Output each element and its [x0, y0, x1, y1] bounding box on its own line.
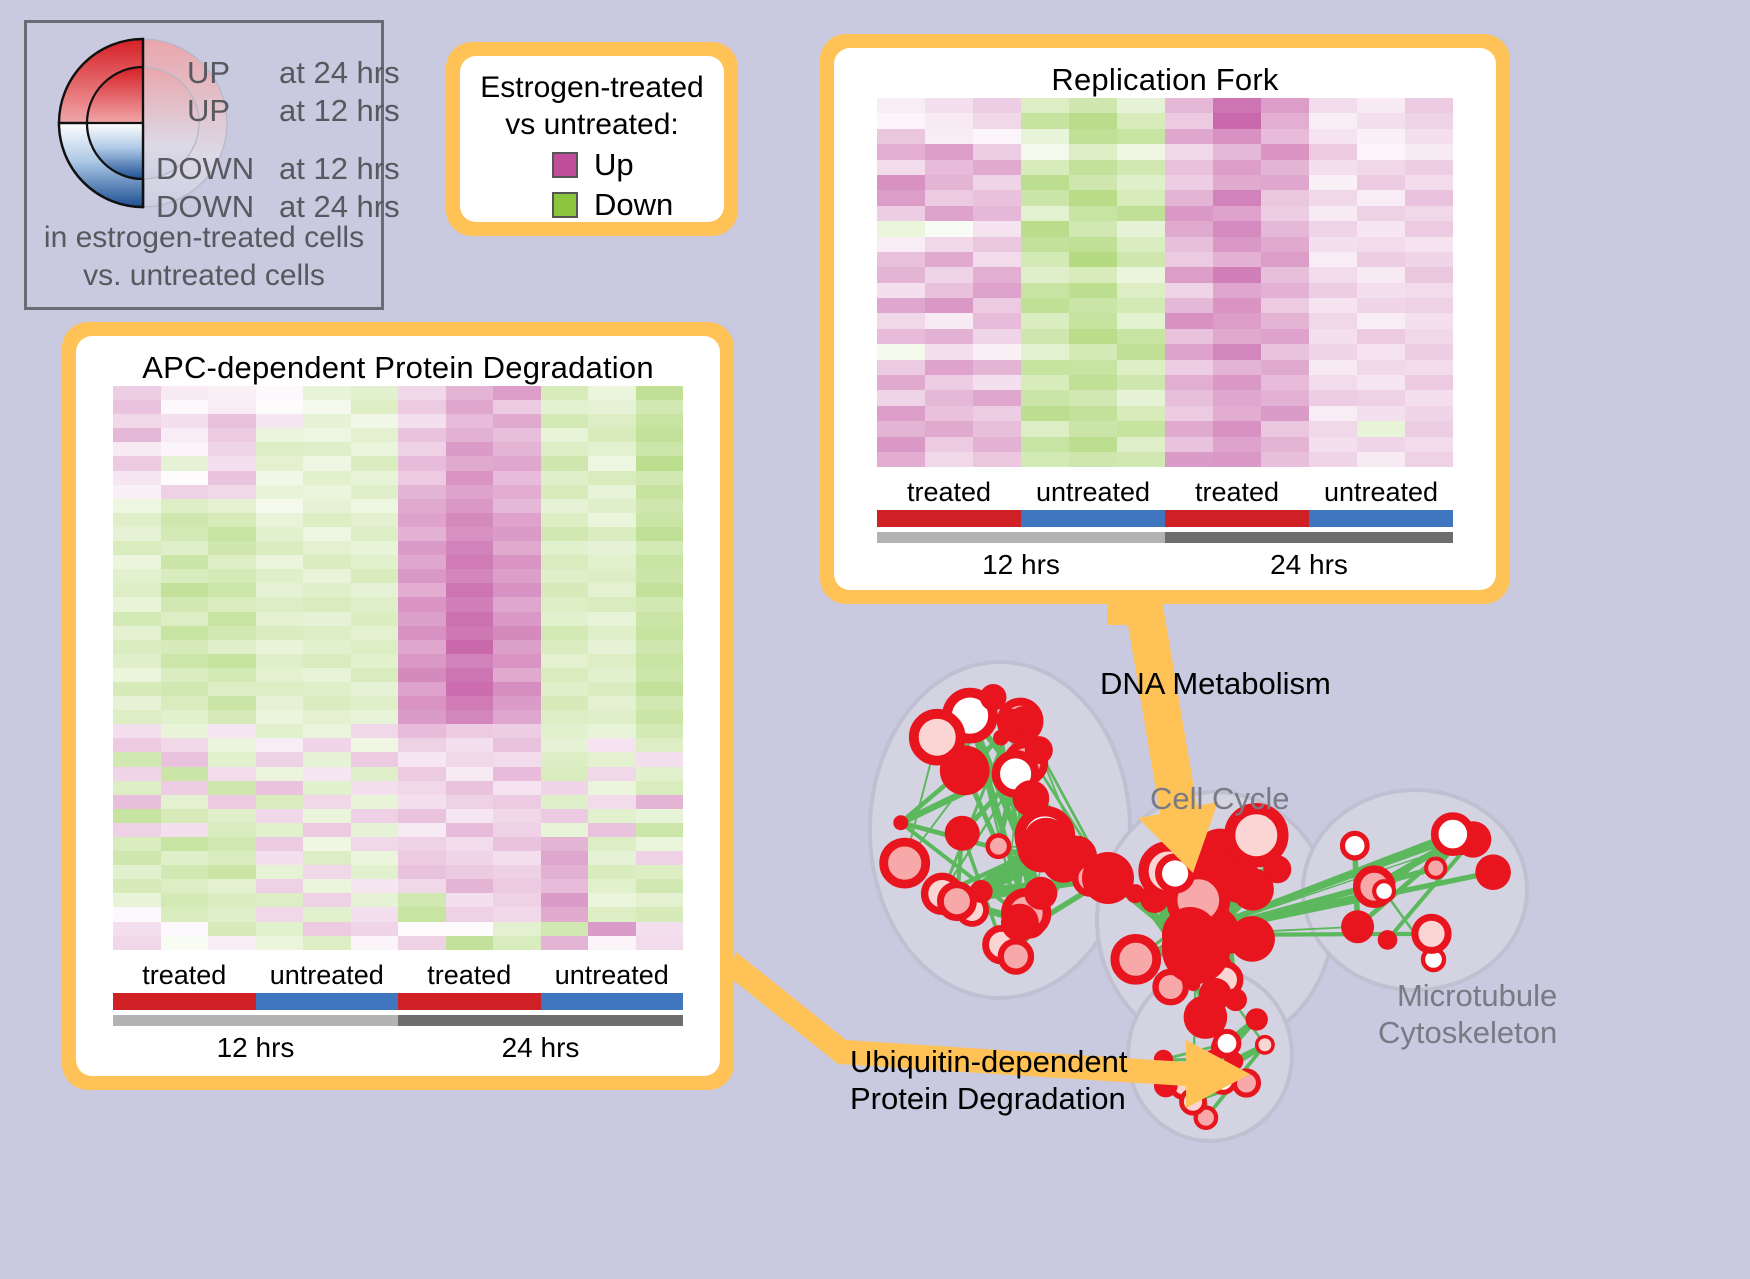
heatmap-cell [303, 795, 351, 809]
network-edge-microtubule [1436, 837, 1461, 868]
network-edge-dna [1001, 738, 1034, 924]
heatmap-cell [303, 809, 351, 823]
heatmap-cell [541, 428, 589, 442]
cluster-label-microtubule-cytoskeleton: Microtubule Cytoskeleton [1378, 977, 1557, 1051]
network-edge-dna [1012, 721, 1034, 924]
heatmap-cell [398, 414, 446, 428]
heatmap-cell [588, 865, 636, 879]
heatmap-cell [1357, 421, 1405, 436]
network-node [1199, 978, 1232, 1011]
heatmap-cell [256, 513, 304, 527]
heatmap-cell [1021, 329, 1069, 344]
heatmap-cell [208, 865, 256, 879]
group-color-bar [877, 510, 1453, 527]
heatmap-cell [351, 555, 399, 569]
heatmap-cell [161, 471, 209, 485]
network-edge-dna [972, 836, 1045, 910]
heatmap-cell [256, 893, 304, 907]
heatmap-cell [1069, 437, 1117, 452]
heatmap-cell [1021, 190, 1069, 205]
network-edge-cell-cycle [1171, 873, 1175, 882]
heatmap-cell [398, 922, 446, 936]
heatmap-cell [636, 583, 684, 597]
network-edge-cell-cycle [1135, 894, 1186, 966]
heatmap-cell [1405, 221, 1453, 236]
heatmap-cell [588, 555, 636, 569]
network-edge-cell-cycle [1165, 871, 1205, 1017]
heatmap-cell [1069, 252, 1117, 267]
heatmap-cell [1165, 252, 1213, 267]
heatmap-cell [208, 597, 256, 611]
network-node [1156, 868, 1185, 897]
network-edge-ubiquitin [1200, 1045, 1265, 1084]
heatmap-cell [877, 129, 925, 144]
heatmap-cell [541, 541, 589, 555]
heatmap-cell [208, 752, 256, 766]
network-edge-dna [957, 892, 981, 902]
panel-title-apc: APC-dependent Protein Degradation [76, 336, 720, 386]
network-edge-dna [1039, 750, 1091, 878]
heatmap-cell [161, 569, 209, 583]
heatmap-cell [303, 583, 351, 597]
network-node [1197, 1059, 1213, 1075]
heatmap-cell [1021, 390, 1069, 405]
heatmap-cell [493, 527, 541, 541]
heatmap-cell [925, 237, 973, 252]
heatmap-cell [588, 724, 636, 738]
heatmap-cell [493, 682, 541, 696]
heatmap-cell [208, 809, 256, 823]
heatmap-cell [1117, 252, 1165, 267]
heatmap-cell [256, 879, 304, 893]
heatmap-cell [1261, 344, 1309, 359]
heatmap-cell [446, 597, 494, 611]
heatmap-cell [877, 175, 925, 190]
group-bar-untreated-24 [541, 993, 684, 1010]
network-edge-dna [993, 697, 1020, 721]
heatmap-cell [351, 612, 399, 626]
heatmap-cell [1117, 129, 1165, 144]
heatmap-cell [256, 626, 304, 640]
heatmap-cell [925, 344, 973, 359]
network-edge-ubiquitin [1200, 1065, 1206, 1117]
heatmap-cell [303, 527, 351, 541]
heatmap-cell [256, 865, 304, 879]
heatmap-cell [493, 738, 541, 752]
network-node [1082, 852, 1134, 904]
up-swatch-icon [552, 152, 578, 178]
heatmap-cell [256, 907, 304, 921]
network-edge-dna [1034, 856, 1076, 923]
network-edge-cell-cycle [1214, 884, 1232, 968]
heatmap-cell [541, 936, 589, 950]
heatmap-cell [208, 696, 256, 710]
heatmap-cell [493, 541, 541, 555]
network-edge-microtubule [1384, 891, 1433, 959]
heatmap-cell [161, 738, 209, 752]
heatmap-cell [1117, 98, 1165, 113]
network-node [1022, 828, 1062, 868]
heatmap-cell [1405, 267, 1453, 282]
heatmap-cell [1213, 329, 1261, 344]
network-edge-cell-cycle [1180, 869, 1277, 945]
network-node [1171, 1072, 1197, 1098]
heatmap-cell [1213, 98, 1261, 113]
heatmap-cell [588, 767, 636, 781]
heatmap-cell [161, 795, 209, 809]
heatmap-cell [351, 922, 399, 936]
heatmap-cell [636, 851, 684, 865]
network-edge-cell-cycle [1193, 929, 1208, 984]
time-bar-12 [877, 532, 1165, 543]
heatmap-cell [636, 428, 684, 442]
group-labels: treated untreated treated untreated [877, 477, 1453, 508]
heatmap-cell [161, 781, 209, 795]
heatmap-cell [636, 907, 684, 921]
heatmap-cell [1261, 298, 1309, 313]
heatmap-cell [1405, 375, 1453, 390]
network-node [1000, 709, 1024, 733]
heatmap-cell [1117, 452, 1165, 467]
heatmap-cell [161, 654, 209, 668]
network-node [1446, 822, 1476, 852]
network-edge-microtubule [1374, 887, 1384, 891]
heatmap-cell [303, 936, 351, 950]
heatmap-cell [925, 113, 973, 128]
heatmap-cell [161, 865, 209, 879]
heatmap-cell [303, 865, 351, 879]
heatmap-cell [588, 414, 636, 428]
heatmap-cell [1021, 160, 1069, 175]
network-edge-cell-cycle [1171, 881, 1239, 883]
network-edge-cell-cycle [1175, 873, 1186, 965]
heatmap-cell [636, 485, 684, 499]
time-bar-12 [113, 1015, 398, 1026]
network-bridge-edge [1165, 871, 1196, 950]
heatmap-cell [351, 837, 399, 851]
heatmap-replication-fork [877, 98, 1453, 467]
network-edge-cell-cycle [1225, 884, 1233, 980]
heatmap-cell [877, 144, 925, 159]
network-bridge-edge [1180, 935, 1190, 946]
network-node [1191, 1056, 1209, 1074]
heatmap-cell [1405, 298, 1453, 313]
heatmap-cell [161, 823, 209, 837]
heatmap-cell [588, 499, 636, 513]
heatmap-cell [1357, 221, 1405, 236]
network-edge-dna [970, 716, 1026, 913]
heatmap-cell [973, 452, 1021, 467]
heatmap-cell [1117, 175, 1165, 190]
heatmap-cell [208, 583, 256, 597]
group-label-3: untreated [541, 960, 684, 991]
heatmap-cell [351, 386, 399, 400]
heatmap-cell [493, 640, 541, 654]
heatmap-cell [1117, 390, 1165, 405]
heatmap-cell [256, 597, 304, 611]
network-edge-dna [905, 721, 1012, 863]
heatmap-cell [351, 640, 399, 654]
heatmap-cell [493, 837, 541, 851]
network-edge-ubiquitin [1193, 1083, 1246, 1102]
heatmap-cell [541, 851, 589, 865]
network-node [1162, 928, 1198, 964]
estrogen-title-line-1: Estrogen-treated [460, 70, 724, 107]
heatmap-cell [113, 738, 161, 752]
heatmap-cell [493, 569, 541, 583]
heatmap-cell [541, 879, 589, 893]
network-node [1196, 1108, 1216, 1128]
heatmap-cell [588, 456, 636, 470]
heatmap-cell [351, 471, 399, 485]
heatmap-cell [256, 851, 304, 865]
heatmap-cell [446, 583, 494, 597]
heatmap-cell [588, 400, 636, 414]
cluster-halo-dna-metabolism [870, 662, 1130, 998]
heatmap-cell [636, 823, 684, 837]
network-bridge-edge [1064, 861, 1108, 878]
heatmap-cell [925, 298, 973, 313]
heatmap-cell [303, 879, 351, 893]
network-node [1423, 949, 1444, 970]
heatmap-cell [1261, 267, 1309, 282]
heatmap-cell [113, 541, 161, 555]
heatmap-cell [877, 452, 925, 467]
heatmap-cell [398, 823, 446, 837]
network-node [1374, 881, 1394, 901]
heatmap-cell [1117, 160, 1165, 175]
heatmap-cell [493, 851, 541, 865]
heatmap-cell [446, 752, 494, 766]
network-edge-ubiquitin [1222, 1019, 1257, 1047]
heatmap-cell [1405, 252, 1453, 267]
heatmap-cell [398, 499, 446, 513]
heatmap-cell [303, 541, 351, 555]
network-node [1229, 916, 1275, 962]
network-bridge-edge [901, 823, 1108, 878]
network-node [1224, 988, 1247, 1011]
timepoint-labels: 12 hrs 24 hrs [877, 549, 1453, 581]
network-bridge-edge [1196, 950, 1214, 967]
heatmap-cell [541, 569, 589, 583]
heatmap-cell [1069, 113, 1117, 128]
heatmap-cell [256, 471, 304, 485]
network-node [1197, 909, 1228, 940]
network-node [884, 842, 926, 884]
heatmap-cell [1357, 237, 1405, 252]
heatmap-cell [877, 252, 925, 267]
heatmap-cell [351, 795, 399, 809]
heatmap-cell [541, 767, 589, 781]
heatmap-cell [1117, 267, 1165, 282]
heatmap-cell [256, 640, 304, 654]
heatmap-cell [973, 390, 1021, 405]
heatmap-cell [1021, 313, 1069, 328]
heatmap-cell [351, 654, 399, 668]
network-edge-ubiquitin [1163, 1059, 1223, 1080]
network-node [1154, 1074, 1178, 1098]
heatmap-cell [1405, 360, 1453, 375]
network-edge-cell-cycle [1209, 929, 1216, 995]
heatmap-cell [973, 267, 1021, 282]
heatmap-cell [1213, 406, 1261, 421]
heatmap-cell [208, 823, 256, 837]
heatmap-cell [1261, 375, 1309, 390]
network-edge-cell-cycle [1171, 883, 1202, 935]
heatmap-cell [446, 654, 494, 668]
heatmap-cell [208, 442, 256, 456]
wheel-time-0: at 24 hrs [279, 55, 400, 91]
heatmap-cell [1069, 298, 1117, 313]
heatmap-cell [161, 851, 209, 865]
heatmap-cell [398, 626, 446, 640]
heatmap-cell [1213, 267, 1261, 282]
heatmap-cell [588, 795, 636, 809]
heatmap-cell [493, 781, 541, 795]
heatmap-cell [493, 823, 541, 837]
network-node [1263, 855, 1291, 883]
heatmap-cell [113, 527, 161, 541]
heatmap-cell [303, 485, 351, 499]
network-node [1025, 736, 1053, 764]
timepoint-label-24: 24 hrs [1165, 549, 1453, 581]
heatmap-cell [1309, 313, 1357, 328]
network-edge-microtubule [1358, 837, 1461, 927]
heatmap-cell [1405, 175, 1453, 190]
network-edge-ubiquitin [1213, 1059, 1247, 1083]
network-edge-dna [1030, 840, 1046, 922]
network-edge-ubiquitin [1206, 1045, 1265, 1118]
heatmap-cell [1213, 237, 1261, 252]
heatmap-cell [636, 752, 684, 766]
heatmap-cell [208, 767, 256, 781]
network-bridge-edge [1190, 868, 1436, 935]
heatmap-cell [1405, 113, 1453, 128]
network-edge-ubiquitin [1205, 1059, 1213, 1068]
network-node [1211, 1069, 1235, 1093]
heatmap-cell [446, 907, 494, 921]
network-node [1209, 964, 1240, 995]
heatmap-cell [208, 456, 256, 470]
heatmap-cell [1069, 98, 1117, 113]
network-edge-cell-cycle [1168, 871, 1186, 965]
heatmap-cell [398, 527, 446, 541]
network-bridge-edge [1190, 891, 1384, 935]
heatmap-cell [303, 400, 351, 414]
network-edge-ubiquitin [1223, 1061, 1234, 1080]
heatmap-cell [588, 597, 636, 611]
heatmap-cell [256, 583, 304, 597]
heatmap-cell [446, 485, 494, 499]
network-bridge-edge [1108, 878, 1196, 950]
network-node [1184, 995, 1228, 1039]
heatmap-cell [973, 129, 1021, 144]
heatmap-cell [398, 781, 446, 795]
heatmap-cell [351, 865, 399, 879]
group-bar-treated-24 [398, 993, 541, 1010]
heatmap-cell [113, 767, 161, 781]
network-bridge-edge [1196, 950, 1222, 1047]
network-edge-ubiquitin [1166, 1083, 1247, 1085]
heatmap-cell [303, 823, 351, 837]
heatmap-cell [877, 113, 925, 128]
heatmap-cell [493, 936, 541, 950]
heatmap-cell [1309, 283, 1357, 298]
heatmap-cell [1165, 344, 1213, 359]
heatmap-cell [541, 682, 589, 696]
network-node [1182, 1090, 1205, 1113]
heatmap-cell [1069, 283, 1117, 298]
heatmap-cell [351, 781, 399, 795]
network-node [940, 746, 990, 796]
heatmap-cell [256, 809, 304, 823]
heatmap-cell [588, 640, 636, 654]
figure-canvas: UP at 24 hrs UP at 12 hrs DOWN at 12 hrs… [0, 0, 1750, 1279]
heatmap-cell [541, 583, 589, 597]
heatmap-cell [588, 668, 636, 682]
network-node [988, 836, 1009, 857]
network-bridge-edge [1196, 939, 1252, 950]
heatmap-cell [1405, 390, 1453, 405]
network-node [1014, 907, 1046, 939]
heatmap-cell [256, 456, 304, 470]
heatmap-cell [541, 668, 589, 682]
network-bridge-edge [1193, 950, 1196, 1102]
heatmap-cell [303, 710, 351, 724]
heatmap-cell [1213, 221, 1261, 236]
heatmap-cell [493, 612, 541, 626]
heatmap-cell [113, 851, 161, 865]
heatmap-cell [925, 375, 973, 390]
heatmap-cell [256, 795, 304, 809]
heatmap-cell [588, 851, 636, 865]
heatmap-cell [446, 767, 494, 781]
heatmap-cell [113, 907, 161, 921]
heatmap-cell [1165, 421, 1213, 436]
heatmap-cell [636, 612, 684, 626]
network-bridge-edge [1190, 839, 1473, 935]
network-edge-dna [965, 716, 970, 771]
heatmap-cell [398, 442, 446, 456]
heatmap-cell [636, 767, 684, 781]
network-edge-cell-cycle [1212, 835, 1256, 924]
heatmap-cell [113, 442, 161, 456]
network-node [1455, 821, 1491, 857]
down-swatch-icon [552, 192, 578, 218]
heatmap-cell [636, 414, 684, 428]
heatmap-cell [636, 738, 684, 752]
cluster-halo-microtubule [1303, 790, 1527, 990]
heatmap-cell [1357, 160, 1405, 175]
network-edge-cell-cycle [1196, 881, 1239, 887]
heatmap-cell [208, 555, 256, 569]
heatmap-cell [1021, 98, 1069, 113]
heatmap-cell [446, 738, 494, 752]
heatmap-cell [636, 626, 684, 640]
heatmap-cell [113, 710, 161, 724]
network-bridge-edge [993, 697, 1108, 878]
network-node [1156, 972, 1186, 1002]
heatmap-cell [161, 682, 209, 696]
network-edge-cell-cycle [1171, 883, 1205, 1017]
heatmap-cell [113, 386, 161, 400]
network-node [1475, 854, 1511, 890]
network-node [970, 880, 993, 903]
heatmap-cell [541, 626, 589, 640]
network-node [1013, 780, 1050, 817]
heatmap-cell [1117, 237, 1165, 252]
heatmap-cell [1309, 406, 1357, 421]
